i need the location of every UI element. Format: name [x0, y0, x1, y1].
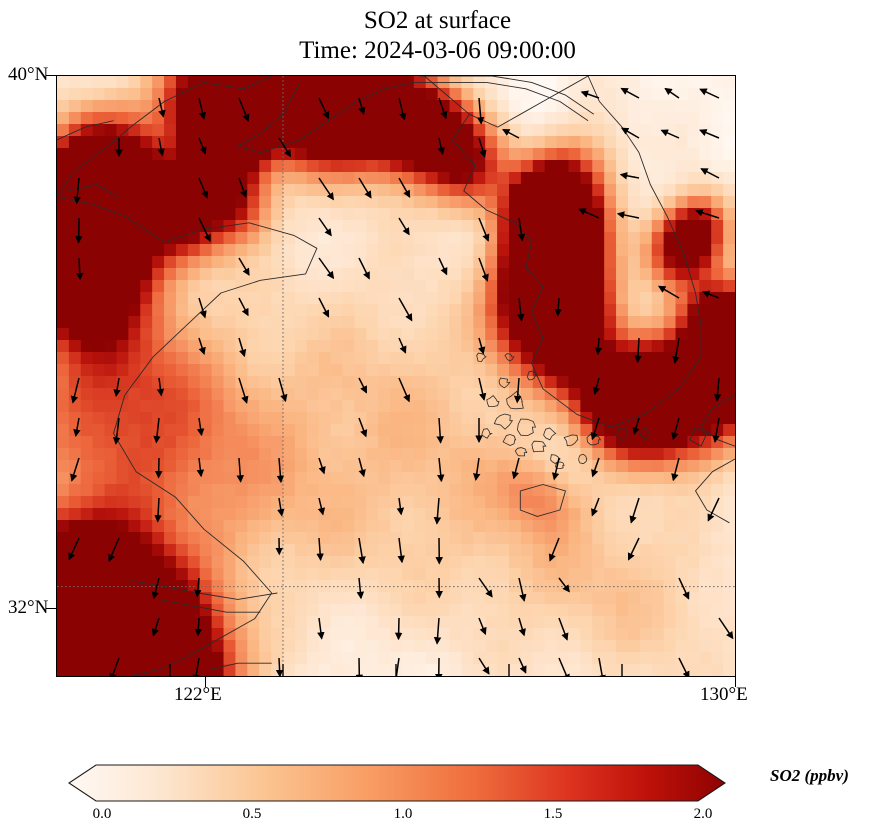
ytick-mark-40n	[46, 75, 56, 76]
colorbar[interactable]	[66, 762, 726, 804]
colorbar-tick-labels: 0.0 0.5 1.0 1.5 2.0	[66, 806, 726, 828]
title-variable: SO2 at surface	[0, 6, 875, 36]
map-raster	[57, 76, 735, 676]
colorbar-gradient	[66, 762, 726, 804]
colorbar-tick-0: 0.0	[93, 806, 112, 823]
figure-canvas: SO2 at surface Time: 2024-03-06 09:00:00…	[0, 0, 875, 836]
map-plot-area[interactable]	[56, 75, 736, 677]
xtick-mark-130e	[735, 677, 736, 687]
ytick-label-32n: 32°N	[8, 597, 48, 619]
colorbar-tick-2: 1.0	[394, 806, 413, 823]
colorbar-tick-3: 1.5	[544, 806, 563, 823]
map-frame	[56, 75, 736, 677]
title-timestamp: Time: 2024-03-06 09:00:00	[0, 36, 875, 66]
xtick-label-122e: 122°E	[174, 684, 222, 706]
ytick-label-40n: 40°N	[8, 64, 48, 86]
figure-title: SO2 at surface Time: 2024-03-06 09:00:00	[0, 6, 875, 65]
colorbar-tick-1: 0.5	[243, 806, 262, 823]
colorbar-axis-label: SO2 (ppbv)	[770, 766, 849, 786]
xtick-mark-122e	[205, 677, 206, 687]
ytick-mark-32n	[46, 608, 56, 609]
colorbar-tick-4: 2.0	[694, 806, 713, 823]
xtick-label-130e: 130°E	[700, 684, 748, 706]
